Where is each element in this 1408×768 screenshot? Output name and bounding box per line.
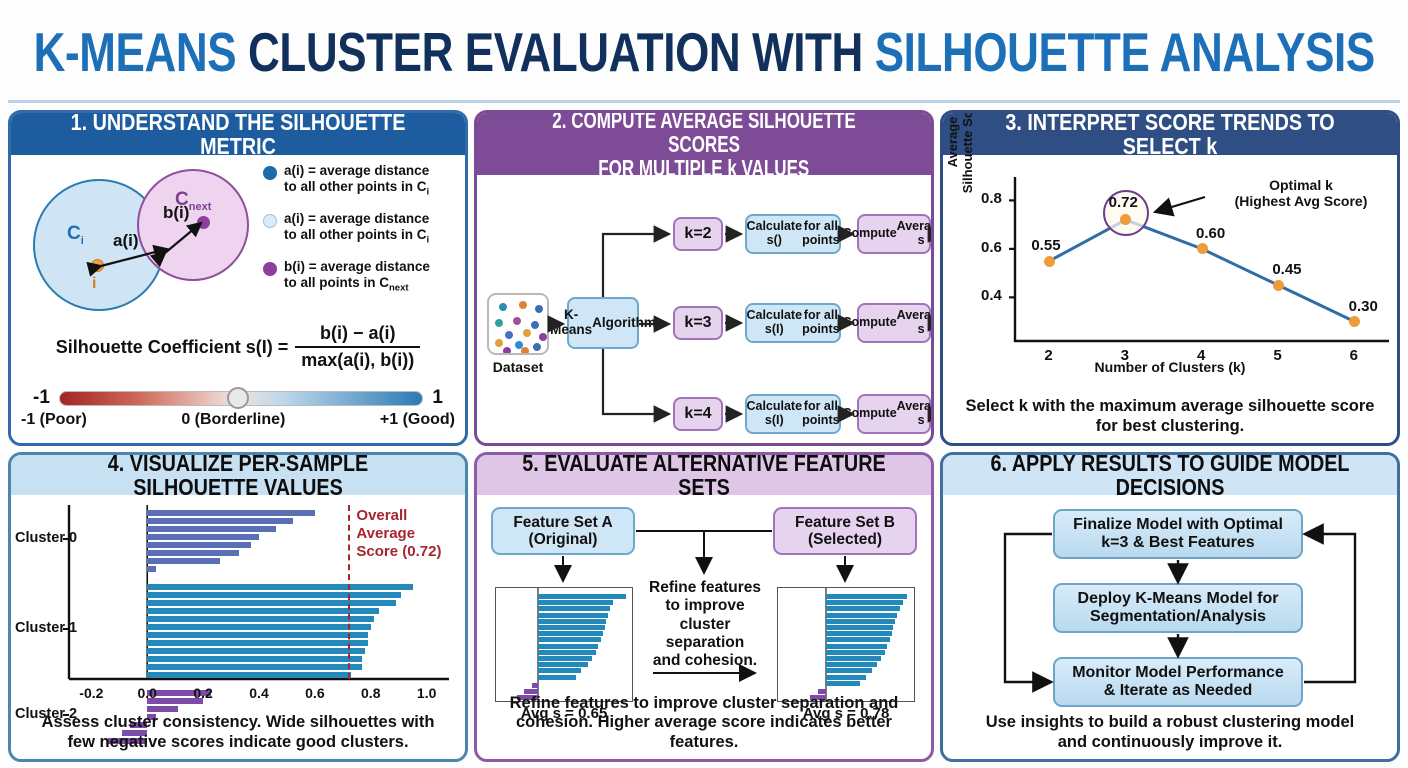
panel-4-header-text: 4. VISUALIZE PER-SAMPLE SILHOUETTE VALUE… [50, 452, 427, 499]
silhouette-bar [147, 600, 396, 606]
mini-silhouette-bar [826, 662, 877, 667]
title-part-silhouette: SILHOUETTE ANALYSIS [875, 21, 1375, 83]
refine-right-arrow-icon [641, 663, 771, 683]
cycle-step-2-text: Deploy K-Means Model forSegmentation/Ana… [1078, 590, 1279, 627]
mini-silhouette-bar [826, 613, 897, 618]
mini-silhouette-bar [538, 650, 596, 655]
avg-label-line: Overall Average [356, 507, 415, 542]
page-title: K-MEANS CLUSTER EVALUATION WITH SILHOUET… [0, 6, 1408, 98]
mini-silhouette-bar [538, 668, 581, 673]
mini-silhouette-bar [538, 662, 588, 667]
compute-average-node-k3[interactable]: ComputeAverage s [857, 303, 931, 343]
panel-5-feature-sets: 5. EVALUATE ALTERNATIVE FEATURE SETS Fea… [474, 452, 934, 762]
kmeans-flow-diagram: Dataset K-MeansAlgorithm k=2 Calculate s… [477, 175, 931, 443]
panel-3-caption-line-2: for best clustering. [1096, 417, 1245, 435]
legend-line-1: a(i) = average distance [284, 163, 429, 178]
slider-min-label: -1 [33, 387, 50, 409]
silhouette-bar [147, 526, 276, 532]
silhouette-bar [147, 510, 315, 516]
cycle-step-2-line-2: Segmentation/Analysis [1090, 608, 1266, 625]
dataset-point [539, 333, 547, 341]
panel-1-header-text: 1. UNDERSTAND THE SILHOUETTE METRIC [50, 110, 427, 158]
mini-silhouette-chart-a [495, 587, 633, 702]
panel-2-header-text: 2. COMPUTE AVERAGE SILHOUETTE SCORESFOR … [516, 110, 893, 180]
feature-set-b-line-2: (Selected) [808, 531, 882, 548]
overall-average-line [348, 505, 350, 679]
feature-set-b-box[interactable]: Feature Set B(Selected) [773, 507, 917, 555]
slider-scale-labels: -1 (Poor) 0 (Borderline) +1 (Good) [21, 411, 455, 429]
x-axis-tick: 0.2 [189, 685, 217, 701]
compute-average-node-k2[interactable]: ComputeAverage s [857, 214, 931, 254]
silhouette-bar [147, 706, 178, 712]
legend-item-text: a(i) = average distanceto all other poin… [284, 163, 429, 198]
cycle-step-1-text: Finalize Model with Optimalk=3 & Best Fe… [1073, 516, 1283, 553]
silhouette-bar [147, 632, 368, 638]
mini-silhouette-bar [826, 668, 872, 673]
dataset-point [533, 343, 541, 351]
mini-silhouette-bar [538, 675, 576, 680]
cycle-step-1-line-1: Finalize Model with Optimal [1073, 516, 1283, 533]
panel-3-header-text: 3. INTERPRET SCORE TRENDS TO SELECT k [982, 110, 1359, 158]
silhouette-bar [147, 558, 220, 564]
venn-arrows-svg [25, 161, 265, 311]
node-text-line: Calculate s() [746, 220, 802, 248]
mini-silhouette-bar [826, 594, 907, 599]
dataset-point [523, 329, 531, 337]
panel-2-body: Dataset K-MeansAlgorithm k=2 Calculate s… [477, 175, 931, 443]
feature-set-a-line-2: (Original) [529, 531, 598, 548]
legend-item: a(i) = average distanceto all other poin… [263, 163, 463, 198]
overall-average-label: Overall AverageScore (0.72) [356, 507, 465, 561]
panel-5-header-text: 5. EVALUATE ALTERNATIVE FEATURE SETS [516, 452, 893, 499]
panel-1-header: 1. UNDERSTAND THE SILHOUETTE METRIC [11, 113, 465, 155]
panel-1-silhouette-metric: 1. UNDERSTAND THE SILHOUETTE METRIC Ci C… [8, 110, 468, 446]
calculate-s-node-k2[interactable]: Calculate s()for all points [745, 214, 841, 254]
cycle-step-1-line-2: k=3 & Best Features [1101, 534, 1254, 551]
venn-diagram: Ci Cnext i a(i) b(i) [25, 161, 265, 311]
cycle-step-3-line-2: & Iterate as Needed [1104, 682, 1253, 699]
panel-6-caption: Use insights to build a robust clusterin… [943, 713, 1397, 753]
node-text-line: Average s [897, 400, 934, 428]
cycle-step-3-line-1: Monitor Model Performance [1072, 664, 1284, 681]
slider-track[interactable] [59, 391, 424, 406]
cycle-step-deploy-model[interactable]: Deploy K-Means Model forSegmentation/Ana… [1053, 583, 1303, 633]
data-point-label: 0.45 [1272, 261, 1301, 278]
infographic-page: K-MEANS CLUSTER EVALUATION WITH SILHOUET… [0, 0, 1408, 768]
panel-6-caption-line-1: Use insights to build a robust clusterin… [986, 713, 1355, 731]
node-text-line: for all points [802, 309, 839, 337]
refine-line-1: Refine features [649, 579, 761, 596]
annotation-line: Optimal k [1269, 177, 1333, 193]
node-text-line: Calculate s(I) [746, 309, 802, 337]
dataset-point [521, 347, 529, 355]
panel-3-score-trends: 3. INTERPRET SCORE TRENDS TO SELECT k Av… [940, 110, 1400, 446]
legend-line-1: b(i) = average distance [284, 259, 430, 274]
formula-left-side: Silhouette Coefficient s(I) = [56, 337, 289, 358]
dataset-label: Dataset [483, 359, 553, 375]
dataset-point [495, 339, 503, 347]
panel-6-header: 6. APPLY RESULTS TO GUIDE MODEL DECISION… [943, 455, 1397, 495]
dataset-point [495, 319, 503, 327]
mini-silhouette-bar [538, 631, 603, 636]
x-axis-tick: 0.6 [301, 685, 329, 701]
data-point-label: 0.60 [1196, 225, 1225, 242]
calculate-s-node-k4[interactable]: Calculate s(I)for all points [745, 394, 841, 434]
silhouette-formula: Silhouette Coefficient s(I) = b(i) − a(i… [11, 323, 465, 371]
x-axis-tick: 0.8 [357, 685, 385, 701]
slider-label-borderline: 0 (Borderline) [181, 411, 285, 429]
formula-numerator: b(i) − a(i) [314, 323, 402, 346]
k-value-node-k2[interactable]: k=2 [673, 217, 723, 251]
mini-silhouette-bar [538, 619, 606, 624]
panel-4-caption-line-2: few negative scores indicate good cluste… [67, 733, 408, 751]
slider-label-poor: -1 (Poor) [21, 411, 87, 429]
panel-5-caption-line-1: Refine features to improve cluster separ… [510, 694, 899, 712]
mini-silhouette-bar [538, 656, 592, 661]
panel-4-body: Cluster 0Cluster 1Cluster 2Overall Avera… [11, 495, 465, 759]
mini-silhouette-bar [826, 650, 885, 655]
mini-silhouette-bar [538, 637, 601, 642]
mini-silhouette-bar [826, 637, 890, 642]
hollow-lightblue-dot-icon [263, 214, 277, 228]
node-text-line: Compute [842, 227, 896, 241]
slider-knob[interactable] [227, 387, 249, 409]
silhouette-bar-chart: Cluster 0Cluster 1Cluster 2Overall Avera… [11, 495, 465, 717]
silhouette-bar [147, 648, 365, 654]
panel-5-caption-line-2: cohesion. Higher average score indicates… [516, 713, 892, 751]
panel-4-caption-line-1: Assess cluster consistency. Wide silhoue… [42, 713, 435, 731]
mini-silhouette-bar [826, 606, 900, 611]
cycle-step-finalize-model[interactable]: Finalize Model with Optimalk=3 & Best Fe… [1053, 509, 1303, 559]
title-part-middle: CLUSTER EVALUATION WITH [248, 21, 875, 83]
x-axis-tick: 0.0 [133, 685, 161, 701]
panel-6-header-text: 6. APPLY RESULTS TO GUIDE MODEL DECISION… [982, 452, 1359, 499]
filled-blue-dot-icon [263, 166, 277, 180]
cycle-step-monitor-performance[interactable]: Monitor Model Performance& Iterate as Ne… [1053, 657, 1303, 707]
node-text-line: for all points [802, 400, 839, 428]
panel-6-caption-line-2: and continuously improve it. [1058, 733, 1283, 751]
mini-silhouette-chart-b [777, 587, 915, 702]
node-text-line: K-Means [550, 308, 592, 338]
silhouette-bar [147, 566, 155, 572]
legend-sub: i [427, 234, 430, 245]
panel-5-header: 5. EVALUATE ALTERNATIVE FEATURE SETS [477, 455, 931, 495]
dataset-point [535, 305, 543, 313]
node-text-line: Average s [897, 309, 934, 337]
silhouette-bar [147, 584, 412, 590]
mini-silhouette-bar [826, 644, 887, 649]
legend-item-text: a(i) = average distanceto all other poin… [284, 211, 429, 246]
data-point-label: 0.30 [1349, 298, 1378, 315]
mini-silhouette-bar [826, 625, 893, 630]
data-point [1197, 243, 1208, 254]
metric-legend: a(i) = average distanceto all other poin… [263, 163, 463, 306]
x-axis-tick: -0.2 [77, 685, 105, 701]
x-axis-tick: 1.0 [413, 685, 441, 701]
silhouette-bar [147, 592, 401, 598]
legend-sub: next [389, 282, 409, 293]
panel-4-caption: Assess cluster consistency. Wide silhoue… [11, 713, 465, 753]
title-divider [8, 100, 1400, 103]
legend-item: a(i) = average distanceto all other poin… [263, 211, 463, 246]
panel-3-body: Average Silhouette Score0.40.60.823456Nu… [943, 155, 1397, 443]
feature-set-a-text: Feature Set A(Original) [513, 514, 612, 549]
silhouette-bar [147, 656, 362, 662]
cluster-tick [63, 538, 69, 540]
silhouette-bar [147, 550, 239, 556]
mini-silhouette-bar [538, 606, 610, 611]
legend-line-2: to all other points in C [284, 179, 427, 194]
formula-denominator: max(a(i), b(i)) [295, 346, 420, 371]
y-axis-tick: 0.4 [981, 287, 1002, 304]
calculate-s-node-k3[interactable]: Calculate s(I)for all points [745, 303, 841, 343]
filled-purple-dot-icon [263, 262, 277, 276]
feature-set-b-text: Feature Set B(Selected) [795, 514, 895, 549]
mini-silhouette-bar [826, 619, 895, 624]
silhouette-bar [147, 616, 373, 622]
feature-set-b-line-1: Feature Set B [795, 514, 895, 531]
legend-line-2: to all other points in C [284, 227, 427, 242]
panel-6-body: Finalize Model with Optimalk=3 & Best Fe… [943, 495, 1397, 759]
mini-silhouette-bar [826, 631, 892, 636]
avg-label-line: Score (0.72) [356, 543, 441, 560]
panel-4-per-sample-values: 4. VISUALIZE PER-SAMPLE SILHOUETTE VALUE… [8, 452, 468, 762]
cycle-step-2-line-1: Deploy K-Means Model for [1078, 590, 1279, 607]
panel-1-body: Ci Cnext i a(i) b(i) [11, 155, 465, 443]
cycle-step-3-text: Monitor Model Performance& Iterate as Ne… [1072, 664, 1284, 701]
compute-average-node-k4[interactable]: ComputeAverage s [857, 394, 931, 434]
cluster-tick [63, 628, 69, 630]
feature-set-a-box[interactable]: Feature Set A(Original) [491, 507, 635, 555]
panel-6-apply-results: 6. APPLY RESULTS TO GUIDE MODEL DECISION… [940, 452, 1400, 762]
node-text-line: Calculate s(I) [746, 400, 802, 428]
data-point-label: 0.55 [1031, 237, 1060, 254]
panel-grid: 1. UNDERSTAND THE SILHOUETTE METRIC Ci C… [8, 110, 1400, 762]
mini-silhouette-bar [538, 613, 608, 618]
dataset-scatter-thumbnail [487, 293, 549, 355]
mini-silhouette-bar [538, 625, 605, 630]
score-range-slider[interactable]: -1 1 [33, 387, 443, 409]
panel-2-header-line-1: 2. COMPUTE AVERAGE SILHOUETTE SCORES [542, 110, 866, 156]
silhouette-bar [147, 608, 379, 614]
avg-silhouette-line-chart: Average Silhouette Score0.40.60.823456Nu… [943, 155, 1397, 387]
k-value-node-k3[interactable]: k=3 [673, 306, 723, 340]
silhouette-bar [147, 624, 371, 630]
dataset-point [531, 321, 539, 329]
x-axis-tick: 0.4 [245, 685, 273, 701]
y-axis-tick: 0.8 [981, 190, 1002, 207]
refine-features-text: Refine features to improve cluster separ… [641, 579, 769, 670]
legend-line-2: to all points in C [284, 275, 389, 290]
k-value-node-k4[interactable]: k=4 [673, 397, 723, 431]
silhouette-bar [147, 640, 368, 646]
data-point-label: 0.72 [1109, 194, 1138, 211]
panel-4-header: 4. VISUALIZE PER-SAMPLE SILHOUETTE VALUE… [11, 455, 465, 495]
data-point [1273, 280, 1284, 291]
legend-item: b(i) = average distanceto all points in … [263, 259, 463, 294]
dataset-point [513, 317, 521, 325]
node-text-line: Average s [897, 220, 934, 248]
panel-2-header: 2. COMPUTE AVERAGE SILHOUETTE SCORESFOR … [477, 113, 931, 175]
formula-fraction: b(i) − a(i) max(a(i), b(i)) [295, 323, 420, 371]
refine-line-3: cluster separation [666, 616, 744, 651]
silhouette-bar [147, 542, 250, 548]
mini-silhouette-bar [826, 656, 881, 661]
slider-max-label: 1 [432, 387, 443, 409]
annotation-line: (Highest Avg Score) [1235, 193, 1368, 209]
y-axis-tick: 0.6 [981, 239, 1002, 256]
panel-3-caption-line-1: Select k with the maximum average silhou… [966, 397, 1375, 415]
legend-line-1: a(i) = average distance [284, 211, 429, 226]
mini-silhouette-bar [538, 644, 598, 649]
dataset-point [499, 303, 507, 311]
node-text-line: for all points [802, 220, 839, 248]
dataset-point [519, 301, 527, 309]
silhouette-bar [147, 518, 292, 524]
refine-line-2: to improve [665, 597, 744, 614]
feature-set-a-line-1: Feature Set A [513, 514, 612, 531]
slider-label-good: +1 (Good) [380, 411, 455, 429]
x-axis-label: Number of Clusters (k) [943, 359, 1397, 375]
silhouette-bar [147, 672, 351, 678]
dataset-point [503, 347, 511, 355]
mini-silhouette-bar [826, 681, 860, 686]
node-text-line: Compute [842, 316, 896, 330]
dataset-point [505, 331, 513, 339]
data-point [1044, 256, 1055, 267]
panel-3-caption: Select k with the maximum average silhou… [943, 397, 1397, 437]
panel-3-header: 3. INTERPRET SCORE TRENDS TO SELECT k [943, 113, 1397, 155]
mini-silhouette-bar-negative [532, 683, 538, 688]
silhouette-bar [147, 664, 362, 670]
mini-silhouette-bar [826, 675, 866, 680]
node-text-line: Algorithm [592, 316, 656, 331]
mini-silhouette-bar [826, 600, 903, 605]
mini-silhouette-bar [538, 600, 613, 605]
node-text-line: Compute [842, 407, 896, 421]
kmeans-algorithm-node[interactable]: K-MeansAlgorithm [567, 297, 639, 349]
panel-5-caption: Refine features to improve cluster separ… [477, 694, 931, 753]
title-part-kmeans: K-MEANS [33, 21, 247, 83]
silhouette-bar [147, 534, 259, 540]
mini-silhouette-bar [538, 594, 626, 599]
legend-item-text: b(i) = average distanceto all points in … [284, 259, 430, 294]
panel-5-body: Feature Set A(Original) Feature Set B(Se… [477, 495, 931, 759]
legend-sub: i [427, 187, 430, 198]
y-axis-label: Average Silhouette Score [945, 110, 975, 197]
optimal-k-annotation: Optimal k(Highest Avg Score) [1211, 177, 1391, 209]
panel-2-compute-scores: 2. COMPUTE AVERAGE SILHOUETTE SCORESFOR … [474, 110, 934, 446]
